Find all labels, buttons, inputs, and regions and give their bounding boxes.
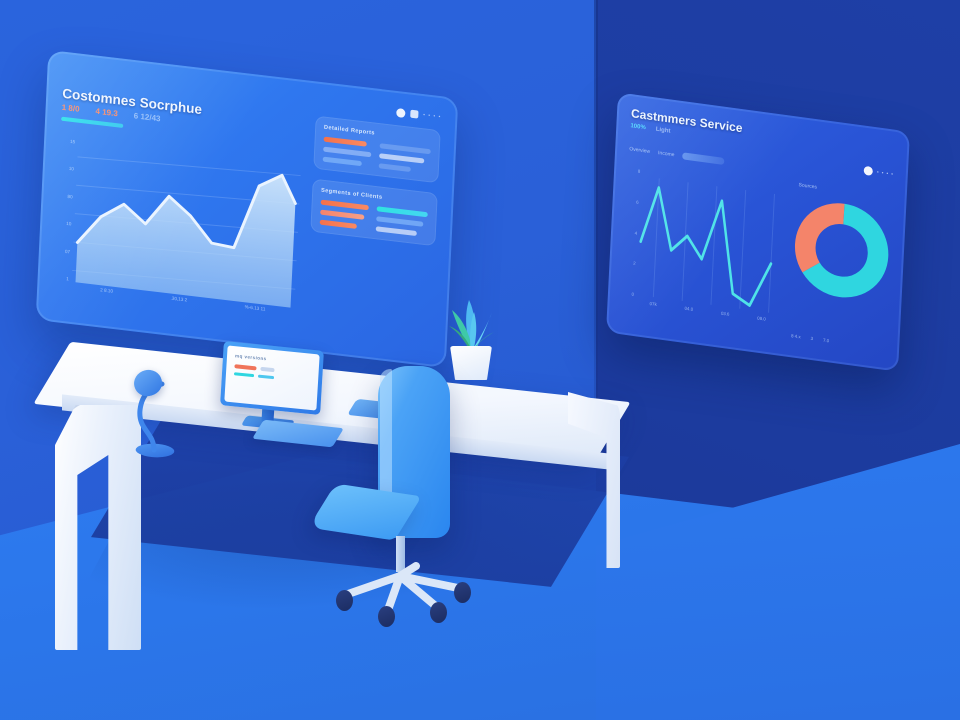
line-chart-legend: Overview Income [629,145,789,174]
left-main-panel: Costomnes Socrphue 1 8/0 4 19.3 6 12/43 … [52,86,303,338]
card-segments-of-clients[interactable]: Segments of Clients [310,179,438,247]
subtitle-percent: 100% [630,123,646,131]
office-chair-base [330,558,474,620]
legend-axis-label: Overview [629,146,650,155]
monitor-screen[interactable]: mq versions [224,345,319,410]
chair-caster [454,582,471,603]
right-line-chart-panel: Overview Income 8 6 4 2 0 [621,145,789,335]
chair-caster [378,606,395,627]
user-avatar-icon[interactable] [864,166,873,176]
x-tick: 08.0 [757,315,766,330]
x-tick: 07k [649,301,657,316]
left-screen-body: Costomnes Socrphue 1 8/0 4 19.3 6 12/43 … [52,86,441,355]
legend-pill[interactable] [682,152,724,165]
y-tick: 4 [625,229,637,236]
title-underline-accent [61,117,123,128]
dashboard-screen-left[interactable]: • • • • Costomnes Socrphue 1 8/0 4 19.3 … [36,50,459,368]
chair-caster [430,602,447,623]
bar-blue [258,374,274,379]
grid-icon[interactable] [410,110,418,119]
y-tick: 10 [56,220,71,227]
y-tick: 10 [59,165,74,172]
donut-legend-item: 7.0 [823,337,829,343]
card-bars [319,200,427,238]
x-tick: 04.0 [684,306,693,321]
right-screen-body: Overview Income 8 6 4 2 0 [621,145,893,349]
left-side-cards: Detailed Reports [305,116,441,355]
donut-legend-item: 8 4.x [791,333,801,339]
line-chart-plot [636,169,786,316]
card-bars-right [376,206,428,237]
bar-cyan [377,206,428,217]
bar-orange [319,220,357,229]
monitor-screen-rows [234,364,311,383]
metric-value-3: 6 12/43 [134,111,161,123]
donut-chart-label: Sources [798,182,817,190]
legend-tag: Income [658,150,675,158]
bar-orange [320,200,369,211]
bar-lightblue [322,157,362,167]
x-tick: %-6.13 11 [244,304,265,318]
chair-caster [336,590,353,611]
bar-white [376,226,417,236]
y-tick: 2 [623,259,635,266]
bar-dim [379,163,411,172]
card-bars-left [319,200,371,231]
donut-chart[interactable] [791,196,892,305]
y-tick: 80 [57,192,72,199]
metric-value-2: 4 19.3 [95,107,118,119]
dashboard-screen-right[interactable]: Castmmers Service 100% Light • • • • Ove… [606,92,910,371]
card-bars-left [322,137,374,168]
bar-orange [320,210,365,220]
card-bars-right [379,143,431,174]
y-tick: 8 [628,167,640,174]
bar-white [379,153,424,163]
topbar-menu-label: • • • • [423,112,441,120]
area-chart: 15 10 80 10 07 1 [53,138,301,322]
plant-pot [450,346,492,380]
y-tick: 07 [55,247,70,254]
subtitle-label: Light [656,127,671,135]
bar-grey [260,367,274,372]
bar-grey [323,147,372,158]
bar-orange [323,137,367,147]
donut-legend-item: 3 [810,336,813,341]
monitor-screen-header: mq versions [235,353,311,366]
metric-value-1: 1 8/0 [62,103,80,114]
scene-root: • • • • Costomnes Socrphue 1 8/0 4 19.3 … [0,0,960,720]
right-donut-panel: Sources 8 4.x 3 7.0 [787,168,893,349]
x-tick: .30,13 2 [170,296,187,310]
bar-cyan [234,372,254,378]
donut-chart-legend: 8 4.x 3 7.0 [791,333,829,343]
x-tick: 03.6 [720,311,729,326]
user-avatar-icon[interactable] [396,107,405,117]
y-tick: 0 [622,290,634,297]
potted-plant [436,288,506,384]
card-bars [322,137,430,175]
avatar-menu-label: • • • • [877,169,894,177]
y-tick: 15 [60,138,75,145]
y-tick: 6 [627,198,639,205]
desktop-monitor[interactable]: mq versions [220,341,324,415]
y-tick: 1 [54,275,69,282]
bar-dim [380,143,431,154]
x-tick: 2 8.10 [100,287,113,301]
bar-orange [234,364,256,370]
card-detailed-reports[interactable]: Detailed Reports [313,116,441,184]
bar-lightblue [377,216,424,226]
area-chart-plot [72,140,301,308]
